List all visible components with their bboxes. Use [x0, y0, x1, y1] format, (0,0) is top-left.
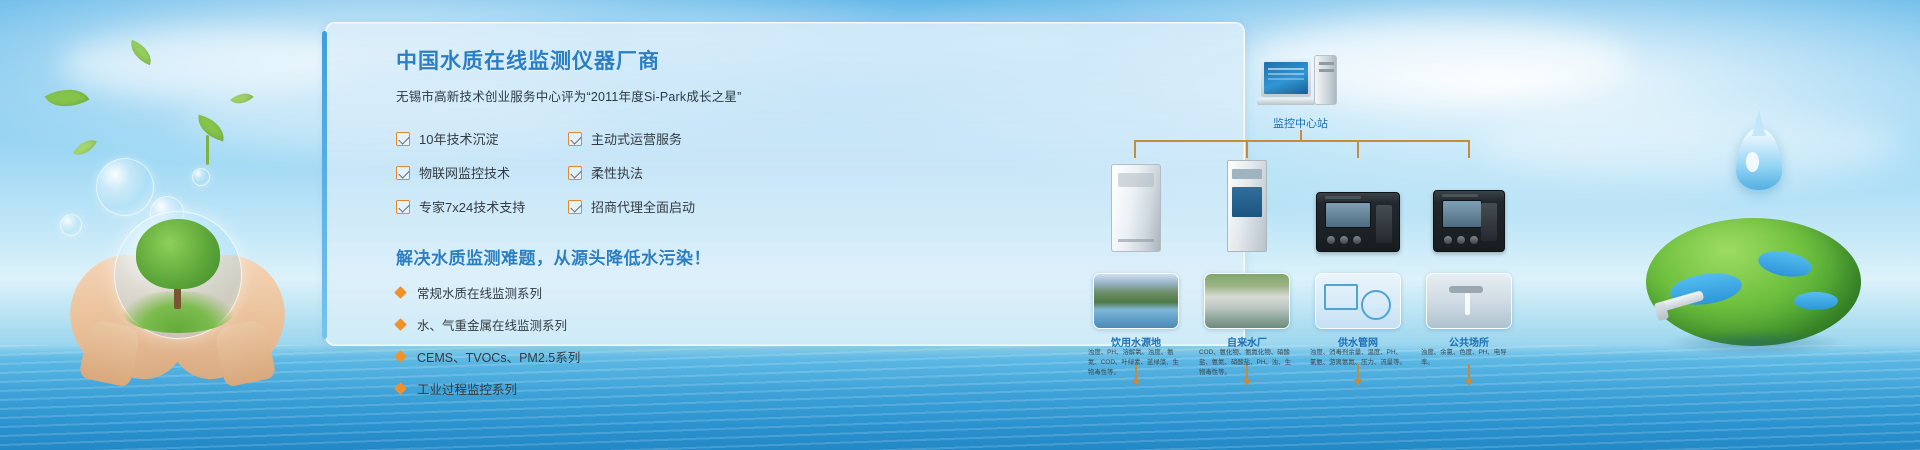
list-item-label: CEMS、TVOCs、PM2.5系列	[417, 347, 580, 366]
feature-label: 柔性执法	[591, 163, 643, 182]
feature-item: 招商代理全面启动	[568, 197, 768, 216]
feature-item: 主动式运营服务	[568, 129, 768, 148]
analyzer-button	[1444, 236, 1452, 244]
list-item-label: 常规水质在线监测系列	[417, 283, 542, 302]
checkbox-icon	[568, 166, 582, 180]
feature-item: 柔性执法	[568, 163, 768, 182]
scene-thumbnail[interactable]	[1315, 273, 1401, 329]
feature-item: 10年技术沉淀	[396, 129, 568, 148]
device-image	[1199, 157, 1295, 252]
section-headline: 解决水质监测难题，从源头降低水污染！	[396, 244, 796, 269]
panel-left-column: 中国水质在线监测仪器厂商 无锡市高新技术创业服务中心评为“2011年度Si-Pa…	[396, 45, 796, 398]
black-panel-analyzer-icon	[1433, 190, 1505, 252]
diamond-bullet-icon	[394, 382, 407, 395]
analyzer-side-panel	[1376, 205, 1392, 243]
feature-label: 主动式运营服务	[591, 129, 682, 148]
analyzer-top-strip	[1442, 194, 1478, 197]
analyzer-button	[1340, 236, 1348, 244]
river-photo	[1094, 274, 1178, 328]
bubble-icon	[192, 168, 210, 186]
list-item[interactable]: 水、气重金属在线监测系列	[396, 315, 796, 334]
diamond-bullet-icon	[394, 350, 407, 363]
scene-thumbnail[interactable]	[1204, 273, 1290, 329]
water-drop-highlight	[1746, 152, 1759, 172]
feature-label: 招商代理全面启动	[591, 197, 695, 216]
analyzer-button	[1470, 236, 1478, 244]
scene-caption: 自来水厂	[1197, 334, 1297, 349]
scene-caption: 公共场所	[1419, 334, 1519, 349]
scene-description: COD、氨化物、氨氮化物、硝酸盐、氨氮、硝酸盐、PH、浊、生物毒性等。	[1199, 348, 1295, 378]
analyzer-top-strip	[1325, 196, 1361, 199]
analyzer-side-panel	[1481, 203, 1497, 241]
connector-bus	[1134, 140, 1469, 142]
connector-drop	[1134, 140, 1136, 158]
analyzer-screen	[1325, 202, 1371, 228]
analyzer-button	[1353, 236, 1361, 244]
connector-drop	[1246, 140, 1248, 158]
list-item-label: 水、气重金属在线监测系列	[417, 315, 567, 334]
analyzer-screen	[1442, 200, 1482, 228]
waterworks-photo	[1205, 274, 1289, 328]
feature-label: 物联网监控技术	[419, 163, 510, 182]
feature-list: 10年技术沉淀 主动式运营服务 物联网监控技术 柔性执法 专家7x24技术支持 …	[396, 129, 796, 216]
monitor-screen	[1264, 62, 1308, 94]
green-earth-illustration	[1646, 218, 1861, 358]
scene-thumbnail[interactable]	[1426, 273, 1512, 329]
scene-description: 浊度、PH、溶解氧、浊度、氨氮、COD、叶绿素、蓝绿藻、生物毒性等。	[1088, 348, 1184, 378]
sprout-icon	[206, 135, 209, 165]
system-diagram: 监控中心站	[1076, 45, 1546, 369]
analyzer-buttons	[1327, 236, 1361, 244]
device-image	[1088, 157, 1184, 252]
connector-drop	[1468, 140, 1470, 158]
earth-shadow	[1664, 330, 1846, 356]
scene-caption: 供水管网	[1308, 334, 1408, 349]
page-title: 中国水质在线监测仪器厂商	[396, 45, 796, 75]
black-panel-analyzer-icon	[1316, 192, 1400, 252]
device-image	[1310, 157, 1406, 252]
monitor-icon	[1261, 59, 1311, 97]
diamond-bullet-icon	[394, 286, 407, 299]
scene-caption: 饮用水源地	[1086, 334, 1186, 349]
diagram-node	[1310, 157, 1406, 252]
feature-item: 物联网监控技术	[396, 163, 568, 182]
device-image	[1421, 157, 1517, 252]
analyzer-buttons	[1444, 236, 1478, 244]
content-panel: 中国水质在线监测仪器厂商 无锡市高新技术创业服务中心评为“2011年度Si-Pa…	[325, 22, 1245, 346]
checkbox-icon	[396, 200, 410, 214]
checkbox-icon	[396, 132, 410, 146]
scene-description: 浊度、余氯、色度、PH、电导率。	[1421, 348, 1517, 368]
list-item[interactable]: 常规水质在线监测系列	[396, 283, 796, 302]
product-series-list: 常规水质在线监测系列 水、气重金属在线监测系列 CEMS、TVOCs、PM2.5…	[396, 283, 796, 398]
diamond-bullet-icon	[394, 318, 407, 331]
hands-holding-tree-illustration	[70, 225, 285, 375]
diagram-node	[1421, 157, 1517, 252]
checkbox-icon	[568, 200, 582, 214]
faucet-photo	[1427, 274, 1511, 328]
bubble-icon	[96, 158, 154, 216]
white-cabinet-analyzer-icon	[1111, 164, 1161, 252]
feature-item: 专家7x24技术支持	[396, 197, 568, 216]
page-subtitle: 无锡市高新技术创业服务中心评为“2011年度Si-Park成长之星”	[396, 86, 796, 105]
list-item-label: 工业过程监控系列	[417, 379, 517, 398]
panel-accent-bar	[322, 31, 327, 339]
diagram-node	[1088, 157, 1184, 252]
diagram-node	[1199, 157, 1295, 252]
computer-workstation-icon	[1261, 59, 1339, 111]
scene-thumbnail[interactable]	[1093, 273, 1179, 329]
list-item[interactable]: CEMS、TVOCs、PM2.5系列	[396, 347, 796, 366]
pipe-network-diagram	[1316, 274, 1400, 328]
keyboard-icon	[1257, 98, 1315, 105]
analyzer-button	[1457, 236, 1465, 244]
connector-drop	[1357, 140, 1359, 158]
scene-description: 浊度、消毒剂余量、温度、PH、氯氨、游离氨氮、压力、流量等。	[1310, 348, 1406, 368]
feature-label: 10年技术沉淀	[419, 129, 498, 148]
diagram-center-label: 监控中心站	[1228, 115, 1373, 131]
checkbox-icon	[396, 166, 410, 180]
earth-lake	[1794, 292, 1838, 310]
sea-water	[0, 345, 1920, 450]
analyzer-button	[1327, 236, 1335, 244]
list-item[interactable]: 工业过程监控系列	[396, 379, 796, 398]
tree-foliage-icon	[136, 219, 220, 289]
feature-label: 专家7x24技术支持	[419, 197, 525, 216]
tall-cabinet-analyzer-icon	[1227, 160, 1267, 252]
pc-tower-icon	[1314, 55, 1337, 105]
cloud-icon	[60, 30, 360, 100]
checkbox-icon	[568, 132, 582, 146]
